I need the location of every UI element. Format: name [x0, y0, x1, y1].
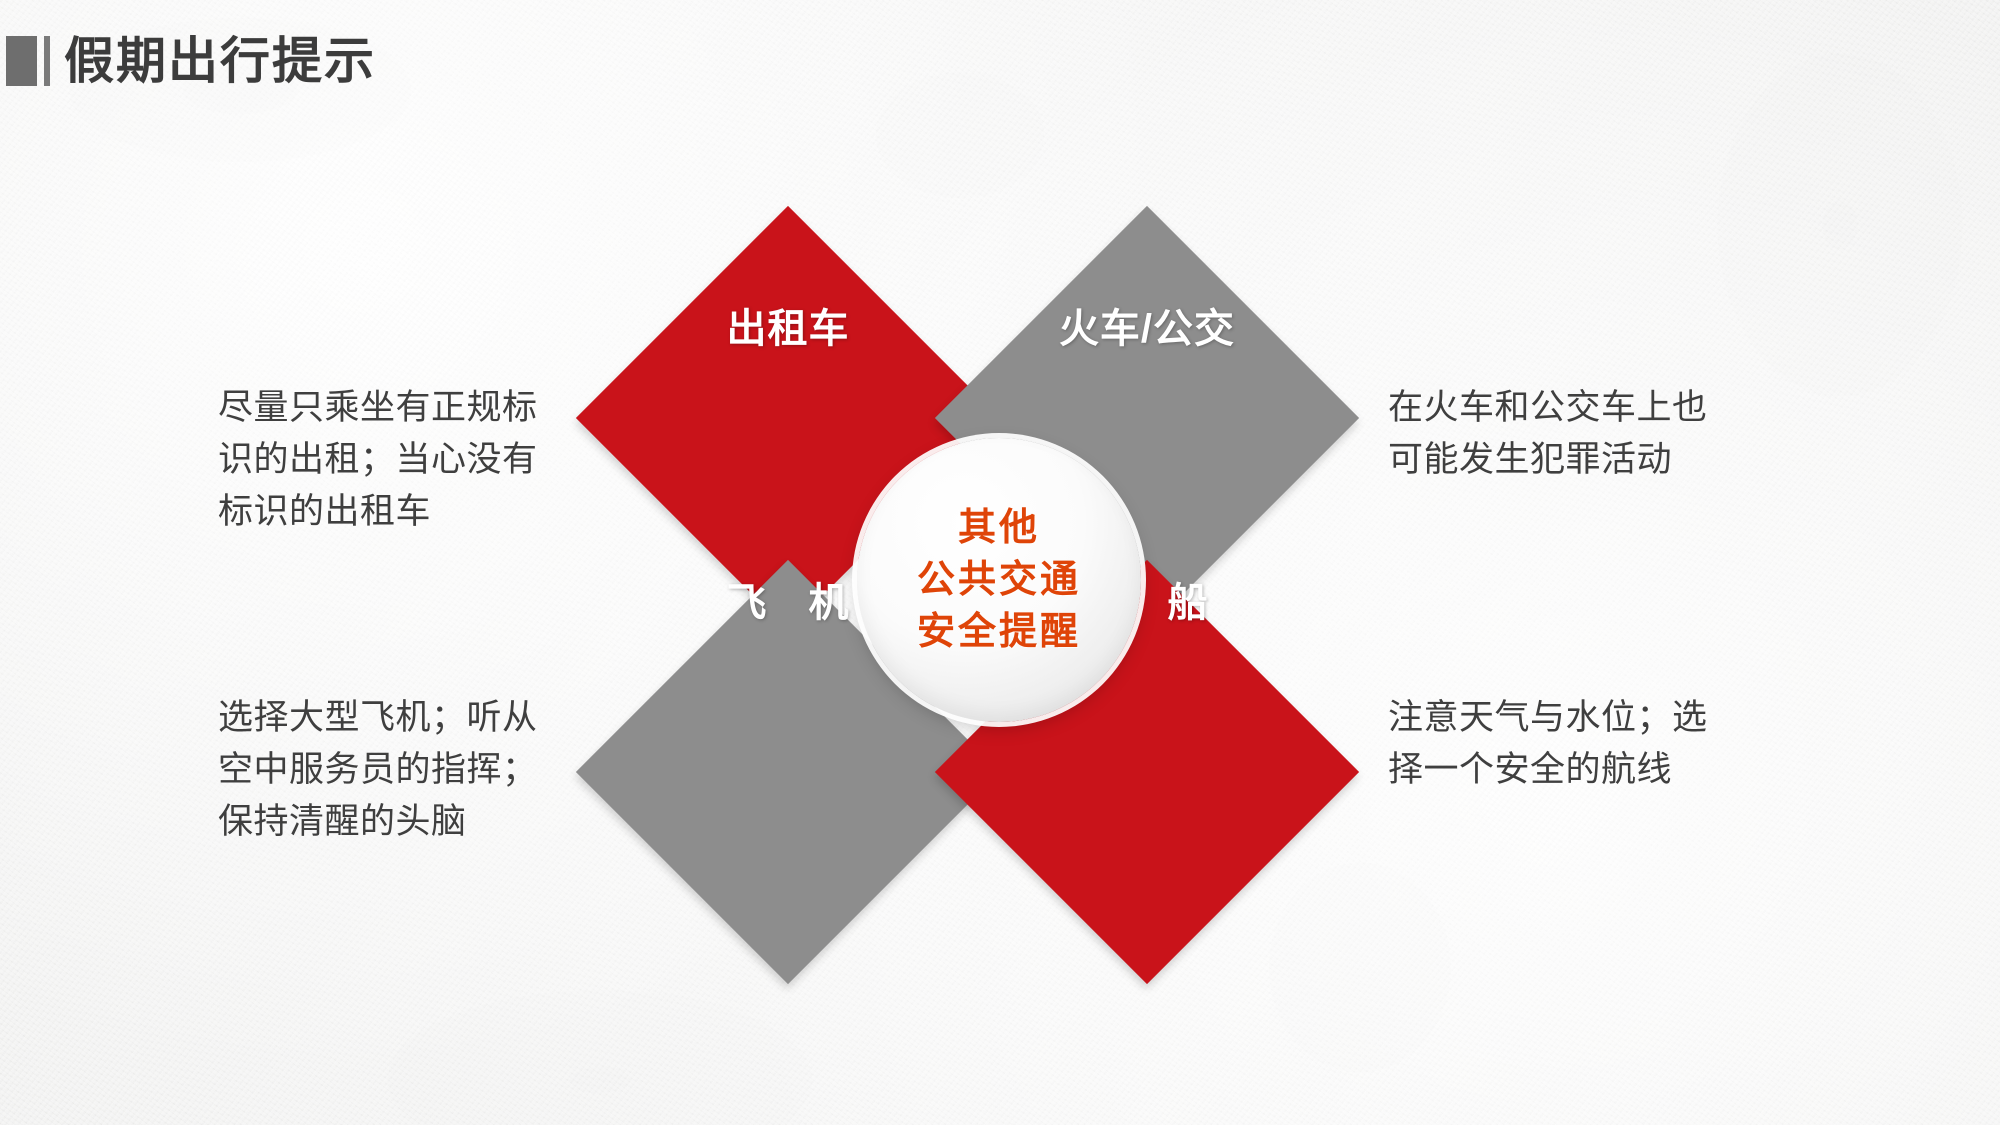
caption-ship: 注意天气与水位；选 择一个安全的航线	[1388, 692, 1828, 796]
center-line-2: 公共交通	[917, 554, 1081, 606]
center-line-1: 其他	[958, 502, 1040, 554]
center-circle[interactable]: 其他 公共交通 安全提醒	[857, 438, 1141, 722]
center-line-3: 安全提醒	[917, 606, 1081, 658]
caption-taxi: 尽量只乘坐有正规标 识的出租；当心没有 标识的出租车	[218, 382, 648, 538]
caption-train: 在火车和公交车上也 可能发生犯罪活动	[1388, 382, 1828, 486]
slide-canvas: 假期出行提示 出租车 火车/公交 飞 机 轮 船 其他 公共交通 安全提醒 尽量…	[0, 0, 2000, 1125]
caption-plane: 选择大型飞机；听从 空中服务员的指挥； 保持清醒的头脑	[218, 692, 648, 848]
transport-safety-diagram: 出租车 火车/公交 飞 机 轮 船 其他 公共交通 安全提醒 尽量只乘坐有正规标…	[0, 0, 2000, 1125]
